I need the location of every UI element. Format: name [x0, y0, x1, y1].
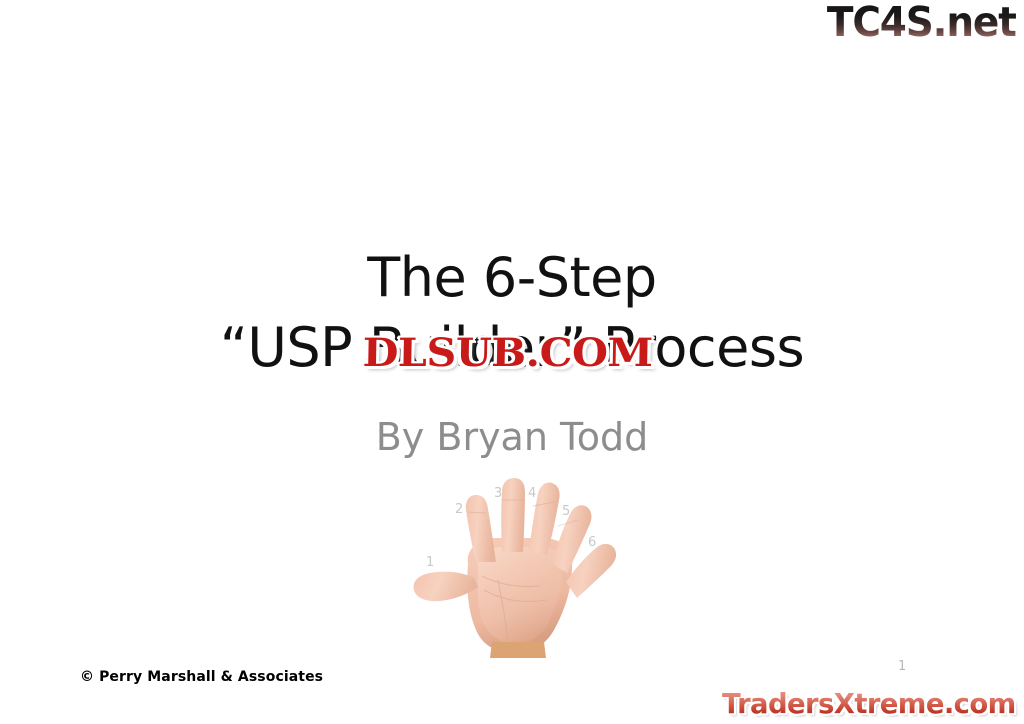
finger-label-4: 4 [528, 487, 536, 500]
finger-3 [501, 478, 525, 552]
title-line-1: The 6-Step [0, 243, 1024, 313]
presentation-slide: TC4S.net The 6-Step “USP Builder” Proces… [0, 0, 1024, 724]
copyright-notice: © Perry Marshall & Associates [80, 669, 323, 685]
finger-label-2: 2 [455, 503, 463, 516]
page-number: 1 [898, 659, 906, 674]
subtitle-author: By Bryan Todd [0, 412, 1024, 462]
dlsub-watermark: DLSUB.COM [362, 331, 653, 375]
tradersxtreme-logo: TradersXtreme.com TradersXtreme.com [722, 689, 1016, 718]
finger-label-6: 6 [588, 536, 596, 549]
finger-label-1: 1 [426, 556, 434, 569]
hand-graphic [406, 472, 626, 658]
finger-label-5: 5 [562, 505, 570, 518]
finger-label-3: 3 [494, 487, 502, 500]
tradersxtreme-logo-text: TradersXtreme.com [722, 687, 1016, 720]
tc4s-logo: TC4S.net [827, 2, 1016, 43]
six-fingered-hand-illustration: 1 2 3 4 5 6 [406, 472, 626, 658]
wrist [490, 642, 546, 658]
